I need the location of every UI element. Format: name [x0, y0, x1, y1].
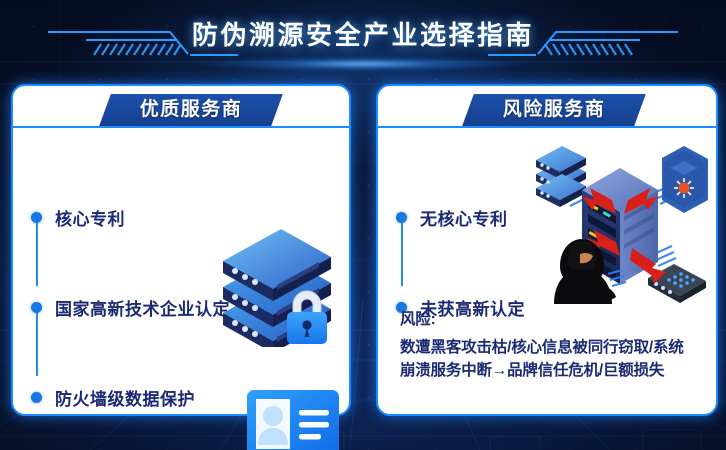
risk-note: 风险: 数遭黑客攻击枯/核心信息被同行窃取/系统 崩溃服务中断→品牌信任危机/巨… — [400, 308, 712, 382]
card-header-underline — [13, 126, 349, 128]
page-title: 防伪溯源安全产业选择指南 — [0, 15, 726, 52]
card-banner-label: 风险服务商 — [468, 94, 640, 126]
risk-note-line: 数遭黑客攻击枯/核心信息被同行窃取/系统 — [400, 336, 712, 359]
bullet-item-no-core-patent: 无核心专利 — [396, 204, 508, 230]
bullet-dot-icon — [31, 302, 42, 313]
bullet-label: 国家高新技术企业认定 — [55, 295, 230, 320]
bullet-label: 无核心专利 — [420, 205, 508, 230]
hacker-server-attack-icon — [524, 138, 716, 304]
bullet-dot-icon — [396, 212, 407, 223]
card-good-provider: 优质服务商 核心专利 国家高新技术企业认定 防火墙级数据保护 — [11, 84, 351, 416]
risk-note-line: 崩溃服务中断→品牌信任危机/巨额损失 — [400, 359, 712, 382]
bullet-dot-icon — [31, 212, 42, 223]
card-banner-label: 优质服务商 — [105, 94, 277, 126]
bullet-item-core-patent: 核心专利 — [31, 204, 125, 230]
bullet-label: 防火墙级数据保护 — [55, 385, 195, 410]
risk-note-heading: 风险: — [400, 308, 712, 331]
monitor-id-card-icon — [241, 384, 349, 450]
bullet-item-firewall-protection: 防火墙级数据保护 — [31, 384, 195, 410]
server-stack-lock-icon — [215, 229, 343, 347]
card-banner-risk: 风险服务商 — [462, 94, 646, 126]
card-risk-provider: 风险服务商 无核心专利 未获高新认定 风险: 数遭黑客攻击枯/核心信息被同行窃取… — [376, 84, 718, 416]
card-header-underline — [378, 126, 716, 128]
title-bar: 防伪溯源安全产业选择指南 — [0, 0, 726, 72]
card-banner-good: 优质服务商 — [99, 94, 283, 126]
bullet-label: 核心专利 — [55, 205, 125, 230]
bullet-dot-icon — [31, 392, 42, 403]
infographic-canvas: 防伪溯源安全产业选择指南 优质服务商 核心专利 国家高新技术企业认定 防火墙级数… — [0, 0, 726, 450]
bullet-item-hightech-cert: 国家高新技术企业认定 — [31, 294, 230, 320]
